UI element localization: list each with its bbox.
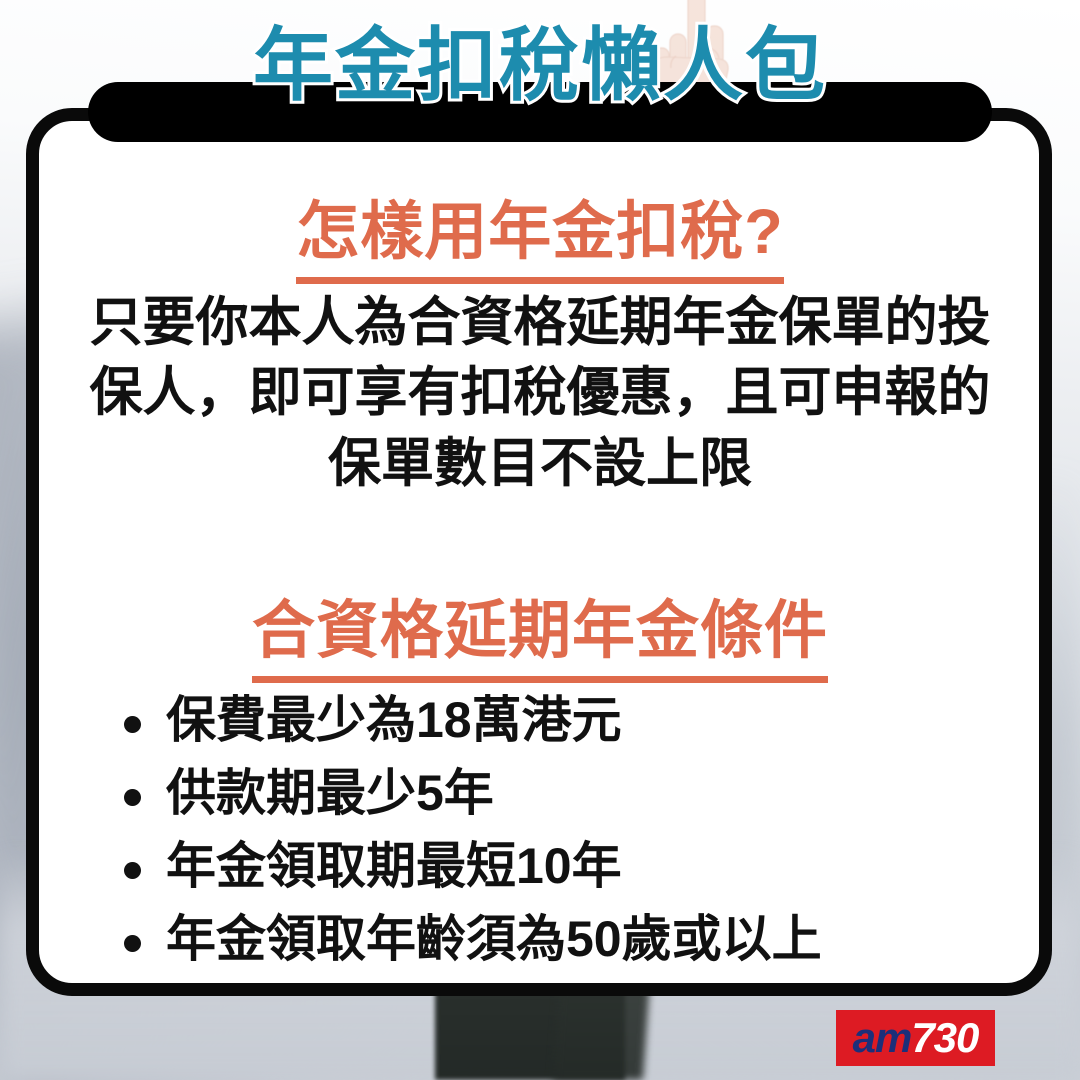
section-title-eligibility: 合資格延期年金條件 xyxy=(0,580,1080,683)
poster: 年金扣稅懶人包 怎樣用年金扣稅? 只要你本人為合資格延期年金保單的投保人，即可享… xyxy=(0,0,1080,1080)
eligibility-bullet-list: 保費最少為18萬港元 供款期最少5年 年金領取期最短10年 年金領取年齡須為50… xyxy=(118,692,822,984)
list-item: 供款期最少5年 xyxy=(118,765,822,821)
list-item-label: 供款期最少5年 xyxy=(166,765,494,821)
section-title-how-to-use-text: 怎樣用年金扣稅? xyxy=(296,181,783,284)
logo-am-text: am xyxy=(853,1014,912,1061)
section-title-how-to-use: 怎樣用年金扣稅? xyxy=(0,181,1080,284)
section-body-how-to-use: 只要你本人為合資格延期年金保單的投保人，即可享有扣稅優惠，且可申報的保單數目不設… xyxy=(76,288,1004,499)
bullet-dot-icon xyxy=(124,862,141,879)
bullet-dot-icon xyxy=(124,789,141,806)
bullet-dot-icon xyxy=(124,935,141,952)
section-title-eligibility-text: 合資格延期年金條件 xyxy=(252,580,828,683)
logo-730-text: 730 xyxy=(911,1014,978,1061)
list-item-label: 保費最少為18萬港元 xyxy=(166,692,622,748)
logo-wordmark: am730 xyxy=(853,1017,979,1059)
list-item-label: 年金領取年齡須為50歲或以上 xyxy=(166,911,822,967)
am730-logo: am730 xyxy=(836,1010,995,1066)
list-item-label: 年金領取期最短10年 xyxy=(166,838,622,894)
bullet-dot-icon xyxy=(124,716,141,733)
list-item: 年金領取年齡須為50歲或以上 xyxy=(118,911,822,967)
list-item: 年金領取期最短10年 xyxy=(118,838,822,894)
card-content: 怎樣用年金扣稅? 只要你本人為合資格延期年金保單的投保人，即可享有扣稅優惠，且可… xyxy=(0,0,1080,1080)
list-item: 保費最少為18萬港元 xyxy=(118,692,822,748)
